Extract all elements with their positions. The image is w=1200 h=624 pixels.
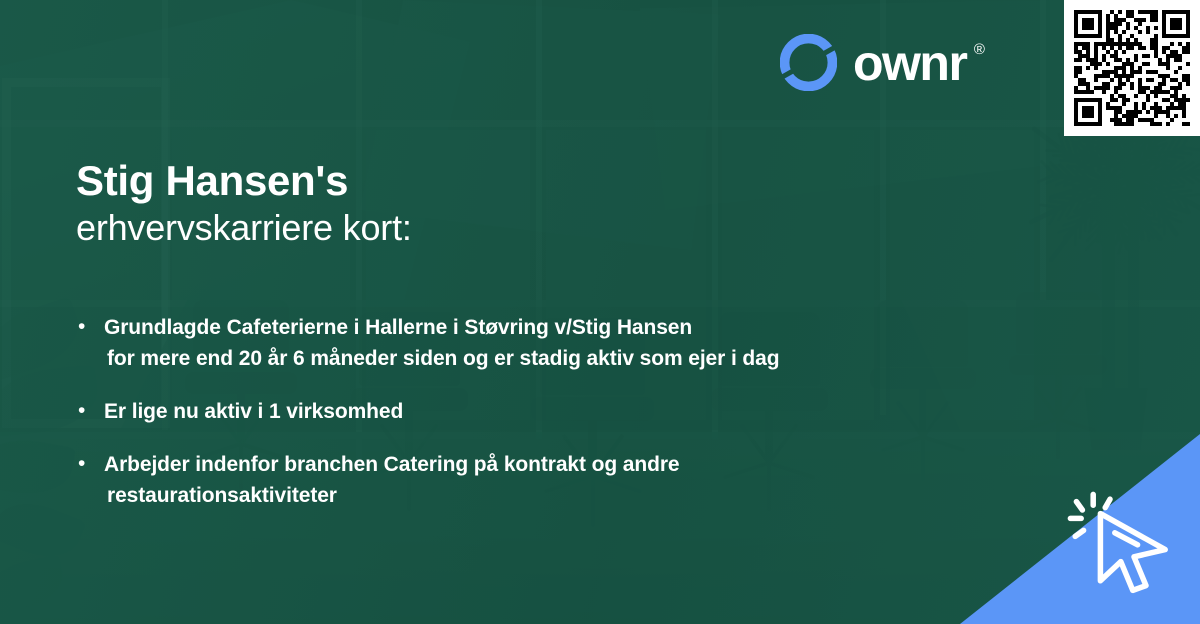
ownr-wordmark: ownr®: [853, 38, 966, 88]
list-item: •Grundlagde Cafeterierne i Hallerne i St…: [78, 312, 1038, 374]
list-item-line: for mere end 20 år 6 måneder siden og er…: [104, 343, 779, 374]
ownr-circular-mark: [780, 34, 837, 91]
bullet-marker-icon: •: [78, 312, 104, 374]
bullet-marker-icon: •: [78, 396, 104, 427]
registered-trademark-symbol: ®: [974, 42, 984, 57]
ownr-logo[interactable]: ownr®: [780, 34, 966, 91]
list-item-line: Arbejder indenfor branchen Catering på k…: [104, 449, 680, 480]
career-facts-list: •Grundlagde Cafeterierne i Hallerne i St…: [78, 312, 1038, 533]
list-item-text: Arbejder indenfor branchen Catering på k…: [104, 449, 680, 511]
qr-code-panel[interactable]: [1064, 0, 1200, 136]
list-item-line: Er lige nu aktiv i 1 virksomhed: [104, 396, 403, 427]
page-title-line1: Stig Hansen's: [76, 157, 776, 204]
business-career-card: ownr® Stig Hansen's erhvervskarriere kor…: [0, 0, 1200, 624]
list-item: •Er lige nu aktiv i 1 virksomhed: [78, 396, 1038, 427]
list-item-text: Grundlagde Cafeterierne i Hallerne i Stø…: [104, 312, 779, 374]
bullet-marker-icon: •: [78, 449, 104, 511]
list-item: •Arbejder indenfor branchen Catering på …: [78, 449, 1038, 511]
list-item-line: restaurationsaktiviteter: [104, 480, 680, 511]
ownr-wordmark-text: ownr: [853, 35, 966, 91]
page-title: Stig Hansen's erhvervskarriere kort:: [76, 157, 776, 250]
page-title-line2: erhvervskarriere kort:: [76, 206, 776, 250]
list-item-line: Grundlagde Cafeterierne i Hallerne i Stø…: [104, 312, 779, 343]
click-cursor-icon: [1062, 480, 1182, 600]
list-item-text: Er lige nu aktiv i 1 virksomhed: [104, 396, 403, 427]
qr-code: [1074, 10, 1190, 126]
